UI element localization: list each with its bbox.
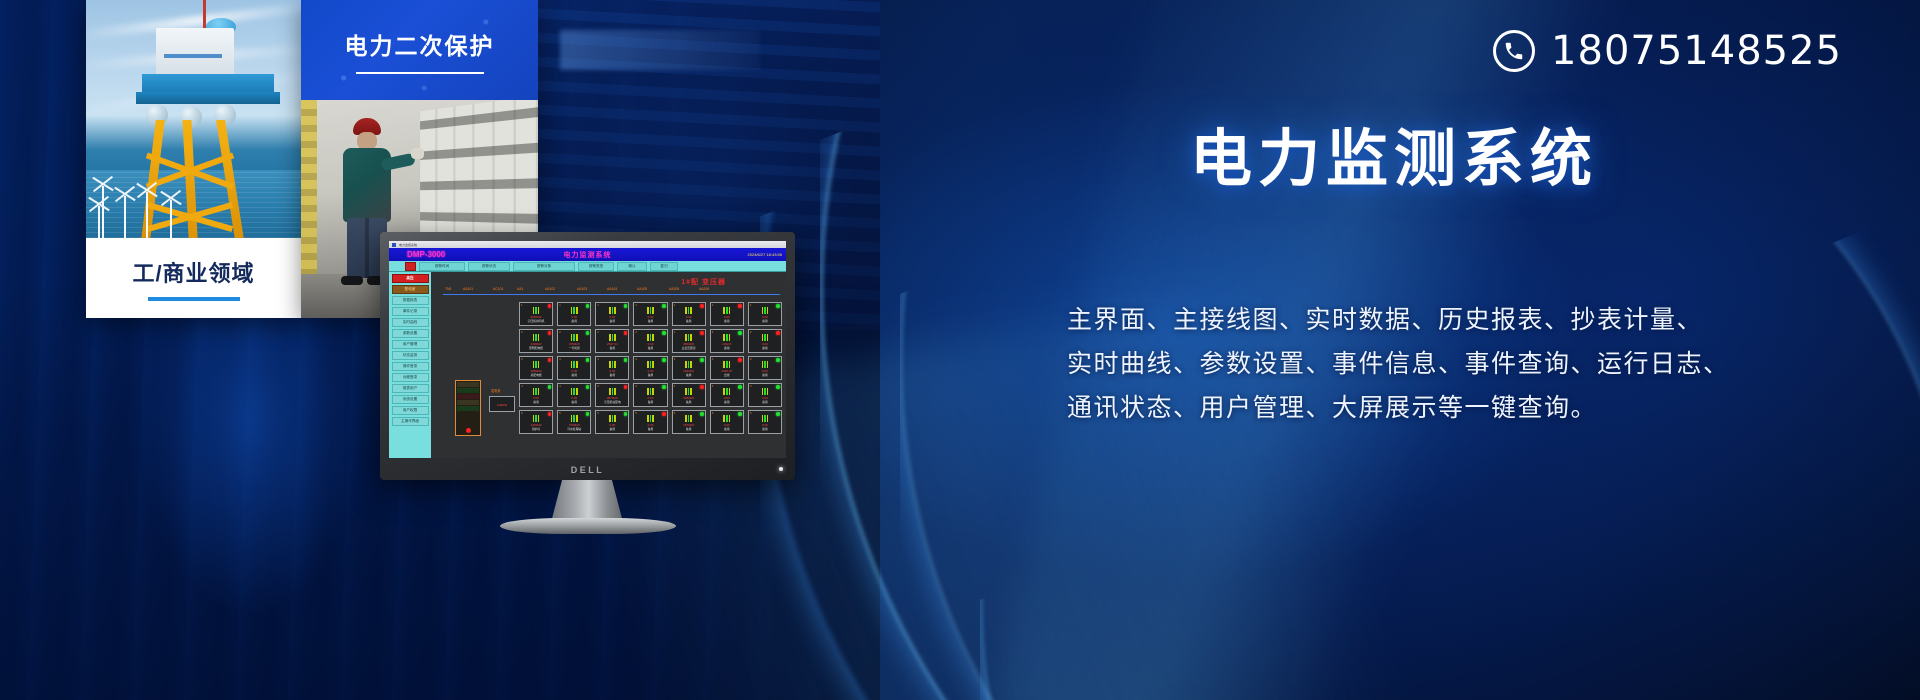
device-name: 备用 xyxy=(724,400,730,404)
device-name: 备用 xyxy=(686,400,692,404)
phone-number: 18075148525 xyxy=(1551,28,1842,74)
device-card-index: 1 xyxy=(635,303,637,307)
device-status-led xyxy=(776,304,780,308)
device-card-index: 1 xyxy=(521,303,523,307)
device-card[interactable]: 40.00备用 xyxy=(633,383,667,407)
device-card-index: 4 xyxy=(674,384,676,388)
device-phase-bars xyxy=(723,415,730,422)
device-card[interactable]: 20.00备用 xyxy=(633,329,667,353)
device-name: 备用 xyxy=(648,427,654,431)
device-card[interactable]: 22400kW照明配电柜 xyxy=(519,329,553,353)
device-card-index: 5 xyxy=(712,411,714,415)
device-card-index: 3 xyxy=(750,357,752,361)
device-card[interactable]: 50.00备用 xyxy=(748,410,782,434)
feeder-tag-AA103: AA103 xyxy=(577,287,587,291)
status-led xyxy=(466,428,471,433)
device-card-index: 2 xyxy=(521,330,523,334)
device-status-led xyxy=(624,331,628,335)
app-clock: 2024/6/27 18:43:56 xyxy=(748,252,782,257)
device-card[interactable]: 50.00备用 xyxy=(595,410,629,434)
device-name: 备用 xyxy=(648,319,654,323)
device-status-led xyxy=(700,331,704,335)
menu-item-confirm[interactable]: 确认 xyxy=(617,262,647,271)
device-card[interactable]: 50.00备用 xyxy=(710,410,744,434)
worker-glove xyxy=(411,148,424,159)
device-card-index: 1 xyxy=(559,303,561,307)
device-name: 备用 xyxy=(571,373,577,377)
device-card[interactable]: 31492kW备用 xyxy=(672,356,706,380)
device-status-led xyxy=(700,304,704,308)
app-body: 高压配电室数据报表事件记录实时曲线参数设置用户管理状态监测操作登录远程登录报表用… xyxy=(389,272,786,458)
device-card[interactable]: 22800kW主变压器室 xyxy=(672,329,706,353)
device-name: 备用 xyxy=(686,373,692,377)
wind-turbine xyxy=(102,186,104,240)
device-phase-bars xyxy=(685,388,692,395)
sidebar-item-5[interactable]: 实时曲线 xyxy=(392,318,429,327)
device-status-led xyxy=(586,385,590,389)
device-card-index: 4 xyxy=(750,384,752,388)
device-status-led xyxy=(586,358,590,362)
device-phase-bars xyxy=(762,361,769,368)
device-phase-bars xyxy=(762,334,769,341)
monitor-bezel: 电力监控系统 DMP-3000 电力监测系统 2024/6/27 18:43:5… xyxy=(380,232,795,480)
device-status-led xyxy=(624,412,628,416)
monitor-brand-logo: DELL xyxy=(380,465,795,475)
device-status-led xyxy=(586,304,590,308)
device-status-led xyxy=(776,385,780,389)
device-card[interactable]: 40.00备用 xyxy=(710,383,744,407)
device-status-led xyxy=(662,304,666,308)
device-status-led xyxy=(738,412,742,416)
device-name: 总配电柜 xyxy=(530,373,541,377)
protection-label-text: 电力二次保护 xyxy=(345,27,495,61)
device-name: 备用 xyxy=(724,427,730,431)
device-name: 备用 xyxy=(610,373,616,377)
feeder-tag-AA102: AA102 xyxy=(545,287,555,291)
device-name: 备用 xyxy=(762,319,768,323)
device-card-index: 2 xyxy=(635,330,637,334)
sidebar-item-1[interactable]: 高压 xyxy=(392,274,429,283)
device-status-led xyxy=(776,412,780,416)
device-status-led xyxy=(662,331,666,335)
device-status-led xyxy=(776,358,780,362)
sidebar-item-13[interactable]: 用户权限 xyxy=(392,406,429,415)
app-title: 电力监测系统 xyxy=(564,250,612,260)
device-card-index: 1 xyxy=(674,303,676,307)
device-card-grid[interactable]: 16250kW空压机排风机10.00备用10.00备用10.00备用10.00备… xyxy=(519,302,782,456)
protection-label-box: 电力二次保护 xyxy=(301,0,538,100)
device-phase-bars xyxy=(609,415,616,422)
monitor-stand-neck xyxy=(548,480,626,522)
device-card[interactable]: 10.00备用 xyxy=(748,302,782,326)
device-status-led xyxy=(700,412,704,416)
device-card[interactable]: 43480kW备用 xyxy=(672,383,706,407)
device-card-index: 3 xyxy=(559,357,561,361)
platform-deck-upper xyxy=(142,74,274,94)
industrial-label-text: 工/商业领域 xyxy=(132,256,254,288)
device-card[interactable]: 34440.97出线 xyxy=(710,356,744,380)
device-name: 污水处理站 xyxy=(567,427,581,431)
window-icon xyxy=(392,243,396,247)
menu-item-alarm-time[interactable]: 报警时间 xyxy=(419,262,465,271)
feeder-tag-AA205: AA205 xyxy=(669,287,679,291)
device-name: 出线 xyxy=(724,373,730,377)
device-phase-bars xyxy=(685,415,692,422)
feeder-tag-AA206: AA206 xyxy=(699,287,709,291)
app-menubar[interactable]: 报警时间 报警状态 报警对象 报警类型 确认 复归 xyxy=(389,261,786,272)
generator-label: 发电机 xyxy=(491,388,501,393)
device-status-led xyxy=(586,331,590,335)
feeder-tag-AA105: AA105 xyxy=(637,287,647,291)
device-phase-bars xyxy=(571,415,578,422)
device-card[interactable]: 40.00备用 xyxy=(748,383,782,407)
device-status-led xyxy=(548,412,552,416)
feeder-tag-AA1: AA1 xyxy=(517,287,523,291)
device-card[interactable]: 50.00备用 xyxy=(633,410,667,434)
device-card-index: 2 xyxy=(559,330,561,334)
device-status-led xyxy=(624,358,628,362)
device-card[interactable]: 40.00备用 xyxy=(557,383,591,407)
feeder-tag-AA104: AA104 xyxy=(607,287,617,291)
device-phase-bars xyxy=(723,361,730,368)
device-status-led xyxy=(662,412,666,416)
device-phase-bars xyxy=(685,334,692,341)
device-phase-bars xyxy=(533,334,540,341)
meter-row xyxy=(457,406,479,411)
device-status-led xyxy=(624,304,628,308)
device-card[interactable]: 52420kW锅炉房 xyxy=(519,410,553,434)
industrial-label-box: 工/商业领域 xyxy=(86,238,301,318)
device-name: 备用 xyxy=(724,319,730,323)
worker-shoe xyxy=(341,276,363,285)
meter-row xyxy=(457,400,479,405)
device-phase-bars xyxy=(609,307,616,314)
device-phase-bars xyxy=(762,388,769,395)
device-name: 备用 xyxy=(610,427,616,431)
card-industrial: 工/商业领域 xyxy=(86,0,301,318)
device-status-led xyxy=(738,331,742,335)
sidebar-item-10[interactable]: 远程登录 xyxy=(392,373,429,382)
device-card-index: 4 xyxy=(712,384,714,388)
monitor: 电力监控系统 DMP-3000 电力监测系统 2024/6/27 18:43:5… xyxy=(380,232,795,532)
device-phase-bars xyxy=(647,415,654,422)
app-sidebar[interactable]: 高压配电室数据报表事件记录实时曲线参数设置用户管理状态监测操作登录远程登录报表用… xyxy=(389,272,431,458)
device-name: 备用 xyxy=(533,400,539,404)
feature-description: 主界面、主接线图、实时数据、历史报表、抄表计量、实时曲线、参数设置、事件信息、事… xyxy=(1067,298,1787,430)
device-name: 备用 xyxy=(648,400,654,404)
device-card[interactable]: 10.00备用 xyxy=(595,302,629,326)
platform-building xyxy=(156,28,234,78)
device-card[interactable]: 53760kW污水处理站 xyxy=(557,410,591,434)
device-status-led xyxy=(738,385,742,389)
device-phase-bars xyxy=(647,307,654,314)
device-card-index: 5 xyxy=(559,411,561,415)
device-card[interactable]: 10.00备用 xyxy=(710,302,744,326)
device-card[interactable]: 40.00备用 xyxy=(519,383,553,407)
sidebar-item-7[interactable]: 用户管理 xyxy=(392,340,429,349)
protection-label-underline xyxy=(356,72,484,74)
device-card-index: 3 xyxy=(635,357,637,361)
device-card[interactable]: 22342.8备用 xyxy=(710,329,744,353)
device-phase-bars xyxy=(723,388,730,395)
menu-item-alarm-state[interactable]: 报警状态 xyxy=(468,262,510,271)
device-card-index: 4 xyxy=(521,384,523,388)
device-phase-bars xyxy=(609,334,616,341)
device-status-led xyxy=(548,331,552,335)
industrial-label-underline xyxy=(148,297,240,301)
device-name: 备用 xyxy=(762,427,768,431)
device-card-index: 3 xyxy=(674,357,676,361)
power-led xyxy=(779,467,783,471)
device-card[interactable]: 42875kW空压机站配电 xyxy=(595,383,629,407)
device-phase-bars xyxy=(533,388,540,395)
generator-value: 1290kW xyxy=(490,403,514,407)
device-card[interactable]: 23750kW一号机组 xyxy=(557,329,591,353)
page-title: 电力监测系统 xyxy=(1190,108,1598,198)
device-status-led xyxy=(586,412,590,416)
device-name: 备用 xyxy=(762,346,768,350)
device-status-led xyxy=(662,385,666,389)
sidebar-item-3[interactable]: 数据报表 xyxy=(392,296,429,305)
menu-item-alarm-object[interactable]: 报警对象 xyxy=(513,262,575,271)
device-card-index: 1 xyxy=(712,303,714,307)
device-phase-bars xyxy=(571,361,578,368)
device-name: 备用 xyxy=(610,346,616,350)
generator-card: 1290kW xyxy=(489,396,515,412)
feeder-tag-TM1: TM1 xyxy=(445,287,452,291)
window-titlebar: 电力监控系统 xyxy=(389,241,786,248)
device-card[interactable]: 10.00备用 xyxy=(557,302,591,326)
device-card-index: 3 xyxy=(521,357,523,361)
monitor-screen: 电力监控系统 DMP-3000 电力监测系统 2024/6/27 18:43:5… xyxy=(389,241,786,458)
feeder-tag-row: TM1AA101AC101AA1AA102AA103AA104AA105AA20… xyxy=(441,287,782,293)
wind-turbine xyxy=(170,200,172,242)
device-phase-bars xyxy=(609,388,616,395)
device-card-index: 2 xyxy=(750,330,752,334)
device-status-led xyxy=(738,358,742,362)
app-logo: DMP-3000 xyxy=(407,250,445,259)
device-card[interactable]: 20.00备用 xyxy=(748,329,782,353)
device-status-led xyxy=(548,358,552,362)
sidebar-item-2[interactable]: 配电室 xyxy=(392,285,429,294)
device-card[interactable]: 30.00备用 xyxy=(748,356,782,380)
meter-row xyxy=(457,388,479,393)
description-line-1: 主界面、主接线图、实时数据、历史报表、抄表计量、 xyxy=(1067,298,1787,342)
device-phase-bars xyxy=(685,307,692,314)
device-card[interactable]: 30.00备用 xyxy=(557,356,591,380)
device-card-index: 5 xyxy=(597,411,599,415)
device-status-led xyxy=(548,304,552,308)
window-title-text: 电力监控系统 xyxy=(399,243,417,247)
phone-icon xyxy=(1493,30,1535,72)
device-phase-bars xyxy=(762,415,769,422)
sidebar-item-8[interactable]: 状态监测 xyxy=(392,351,429,360)
feeder-tag-AA101: AA101 xyxy=(463,287,473,291)
device-name: 备用 xyxy=(571,319,577,323)
one-line-diagram: 1#配 变压器 TM1AA101AC101AA1AA102AA103AA104A… xyxy=(431,272,786,458)
home-icon[interactable] xyxy=(405,262,416,271)
device-card[interactable]: 51870kW备用 xyxy=(672,410,706,434)
busbar xyxy=(443,294,780,295)
device-card-index: 3 xyxy=(712,357,714,361)
device-phase-bars xyxy=(571,388,578,395)
device-phase-bars xyxy=(571,307,578,314)
device-name: 照明配电柜 xyxy=(529,346,543,350)
device-status-led xyxy=(700,385,704,389)
device-card-index: 5 xyxy=(750,411,752,415)
device-card-index: 1 xyxy=(750,303,752,307)
device-status-led xyxy=(548,385,552,389)
app-header: DMP-3000 电力监测系统 2024/6/27 18:43:56 xyxy=(389,248,786,261)
device-status-led xyxy=(776,331,780,335)
sidebar-item-11[interactable]: 报表用户 xyxy=(392,384,429,393)
feeder-tag-AC101: AC101 xyxy=(493,287,503,291)
device-card[interactable]: 22607.31备用 xyxy=(595,329,629,353)
device-status-led xyxy=(662,358,666,362)
device-card[interactable]: 30.00备用 xyxy=(595,356,629,380)
device-card-index: 1 xyxy=(597,303,599,307)
device-phase-bars xyxy=(647,334,654,341)
banner-stage: 工/商业领域 电力二次保护 xyxy=(0,0,1920,700)
device-name: 备用 xyxy=(762,373,768,377)
device-name: 主变压器室 xyxy=(682,346,696,350)
device-card-index: 3 xyxy=(597,357,599,361)
device-card-index: 2 xyxy=(712,330,714,334)
device-card-index: 2 xyxy=(597,330,599,334)
device-card-index: 5 xyxy=(521,411,523,415)
contact-phone[interactable]: 18075148525 xyxy=(1493,28,1842,74)
device-status-led xyxy=(700,358,704,362)
device-name: 备用 xyxy=(571,400,577,404)
device-card-index: 4 xyxy=(635,384,637,388)
device-phase-bars xyxy=(723,307,730,314)
device-phase-bars xyxy=(609,361,616,368)
device-card[interactable]: 31860kW总配电柜 xyxy=(519,356,553,380)
device-phase-bars xyxy=(533,415,540,422)
device-phase-bars xyxy=(533,361,540,368)
device-card-index: 4 xyxy=(597,384,599,388)
wind-turbine xyxy=(146,192,148,242)
device-phase-bars xyxy=(685,361,692,368)
device-card[interactable]: 16250kW空压机排风机 xyxy=(519,302,553,326)
platform-deck-lower xyxy=(136,92,280,104)
device-name: 一号机组 xyxy=(569,346,580,350)
menu-item-alarm-type[interactable]: 报警类型 xyxy=(578,262,614,271)
meter-row xyxy=(457,382,479,387)
wind-turbine xyxy=(124,196,126,244)
device-card-index: 4 xyxy=(559,384,561,388)
device-name: 备用 xyxy=(724,346,730,350)
sidebar-item-12[interactable]: 系统设置 xyxy=(392,395,429,404)
sidebar-item-4[interactable]: 事件记录 xyxy=(392,307,429,316)
description-line-3: 通讯状态、用户管理、大屏展示等一键查询。 xyxy=(1067,386,1787,430)
device-status-led xyxy=(624,385,628,389)
device-name: 备用 xyxy=(610,319,616,323)
device-card[interactable]: 10.00备用 xyxy=(672,302,706,326)
device-name: 备用 xyxy=(648,373,654,377)
device-name: 备用 xyxy=(686,427,692,431)
device-name: 备用 xyxy=(648,346,654,350)
device-status-led xyxy=(738,304,742,308)
device-card-index: 5 xyxy=(635,411,637,415)
device-name: 空压机排风机 xyxy=(528,319,545,323)
device-card[interactable]: 10.00备用 xyxy=(633,302,667,326)
description-line-2: 实时曲线、参数设置、事件信息、事件查询、运行日志、 xyxy=(1067,342,1787,386)
sidebar-item-6[interactable]: 参数设置 xyxy=(392,329,429,338)
device-phase-bars xyxy=(647,388,654,395)
device-card[interactable]: 30.00备用 xyxy=(633,356,667,380)
device-phase-bars xyxy=(647,361,654,368)
device-phase-bars xyxy=(762,307,769,314)
device-phase-bars xyxy=(571,334,578,341)
device-name: 空压机站配电 xyxy=(604,400,621,404)
menu-item-reset[interactable]: 复归 xyxy=(650,262,678,271)
device-card-index: 2 xyxy=(674,330,676,334)
meter-stack-panel xyxy=(455,380,481,436)
device-phase-bars xyxy=(533,307,540,314)
device-name: 锅炉房 xyxy=(532,427,540,431)
device-name: 备用 xyxy=(762,400,768,404)
monitor-stand-base xyxy=(500,518,676,534)
sidebar-item-14[interactable]: 主操作界面 xyxy=(392,417,429,426)
device-name: 备用 xyxy=(686,319,692,323)
device-phase-bars xyxy=(723,334,730,341)
diagram-title: 1#配 变压器 xyxy=(681,277,726,287)
meter-row xyxy=(457,394,479,399)
device-card-index: 5 xyxy=(674,411,676,415)
sidebar-item-9[interactable]: 操作登录 xyxy=(392,362,429,371)
